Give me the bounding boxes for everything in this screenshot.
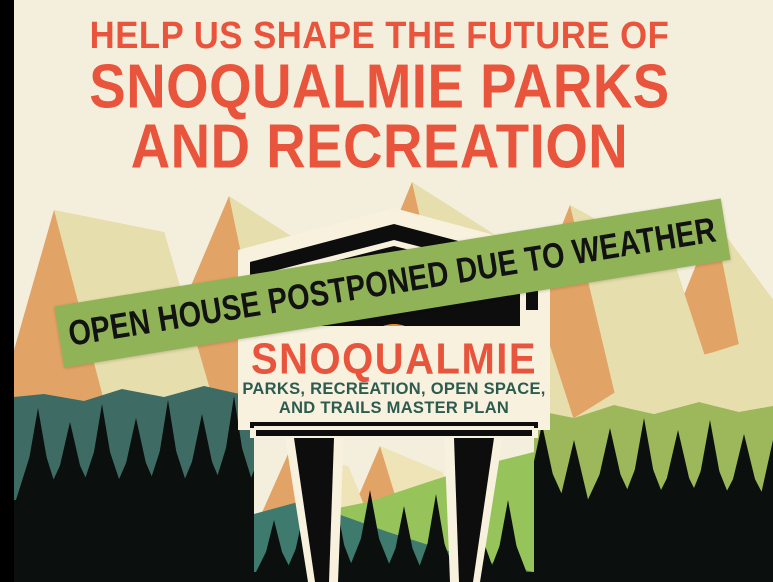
poster-image: HELP US SHAPE THE FUTURE OF SNOQUALMIE P… <box>0 0 773 582</box>
left-black-border-bar <box>0 0 14 582</box>
